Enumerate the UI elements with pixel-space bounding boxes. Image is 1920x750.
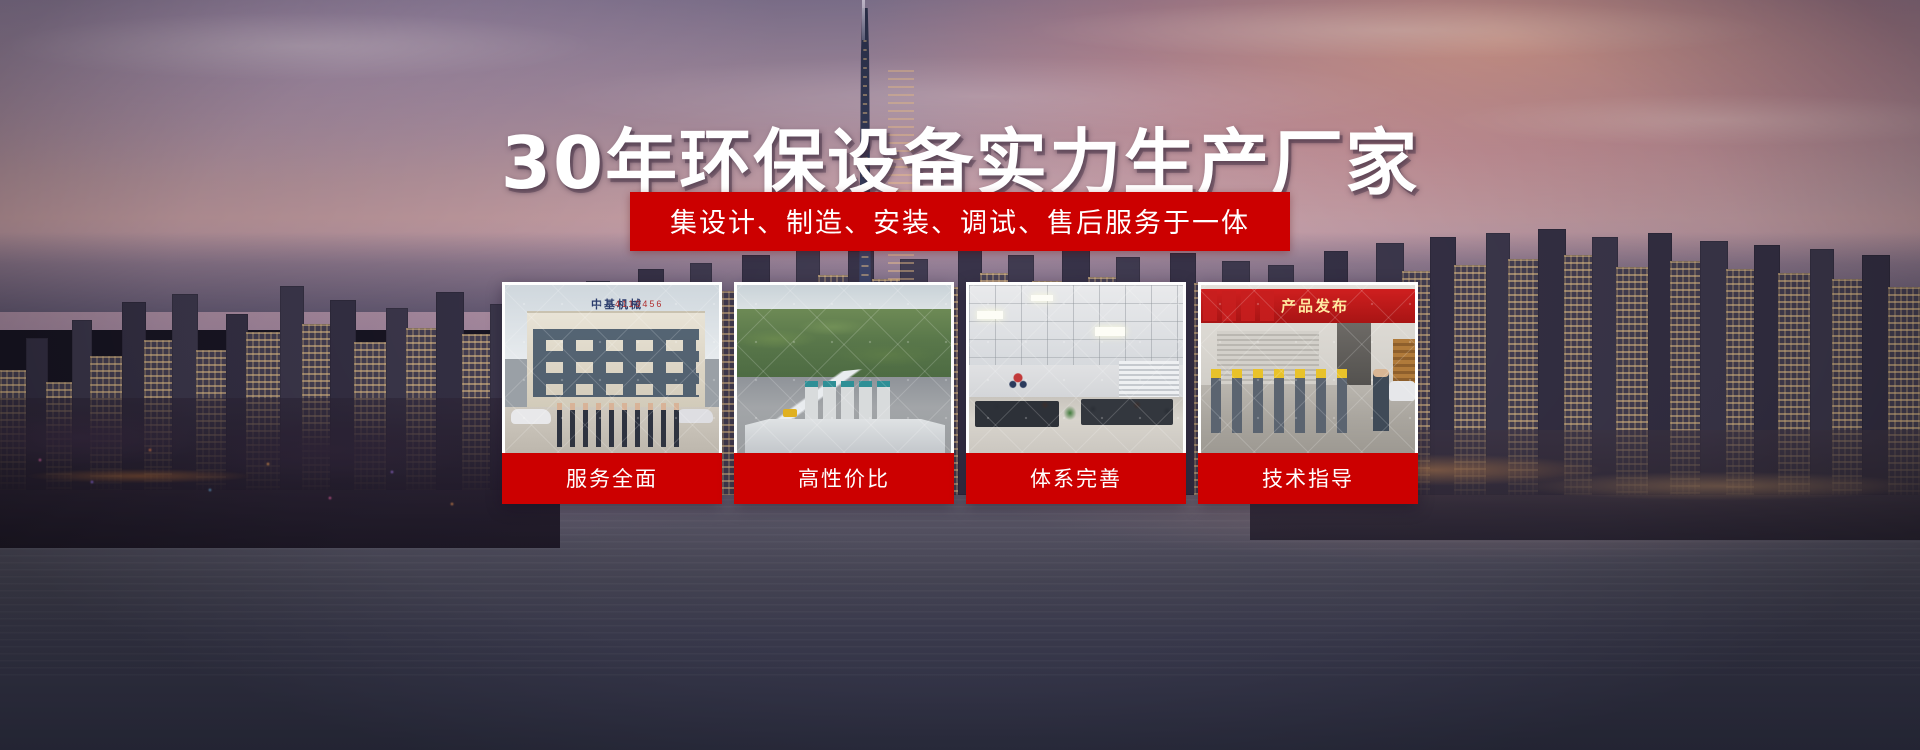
feature-card[interactable]: 高性价比 bbox=[734, 282, 954, 504]
feature-card[interactable]: 产品发布 技术指导 bbox=[1198, 282, 1418, 504]
wall-logo-icon bbox=[1005, 369, 1031, 391]
card-photo-industrial-plant bbox=[737, 285, 951, 453]
banner-content: 30年环保设备实力生产厂家 集设计、制造、安装、调试、售后服务于一体 中基机械 … bbox=[0, 0, 1920, 750]
card-label: 体系完善 bbox=[966, 453, 1186, 504]
banner-subtitle-wrapper: 集设计、制造、安装、调试、售后服务于一体 bbox=[0, 192, 1920, 251]
feature-card[interactable]: 体系完善 bbox=[966, 282, 1186, 504]
factory-banner-text: 产品发布 bbox=[1281, 293, 1409, 319]
card-label: 技术指导 bbox=[1198, 453, 1418, 504]
card-photo-company-building: 中基机械 4113456 bbox=[505, 285, 719, 453]
hero-banner: 30年环保设备实力生产厂家 集设计、制造、安装、调试、售后服务于一体 中基机械 … bbox=[0, 0, 1920, 750]
building-sign-number: 4113456 bbox=[615, 299, 663, 309]
card-photo-office-interior bbox=[969, 285, 1183, 453]
card-photo-factory-workers: 产品发布 bbox=[1201, 285, 1415, 453]
banner-subtitle: 集设计、制造、安装、调试、售后服务于一体 bbox=[630, 192, 1290, 251]
feature-card[interactable]: 中基机械 4113456 服务全面 bbox=[502, 282, 722, 504]
card-label: 高性价比 bbox=[734, 453, 954, 504]
feature-card-list: 中基机械 4113456 服务全面 bbox=[0, 282, 1920, 504]
worker-hard-hats bbox=[1211, 369, 1351, 378]
card-label: 服务全面 bbox=[502, 453, 722, 504]
